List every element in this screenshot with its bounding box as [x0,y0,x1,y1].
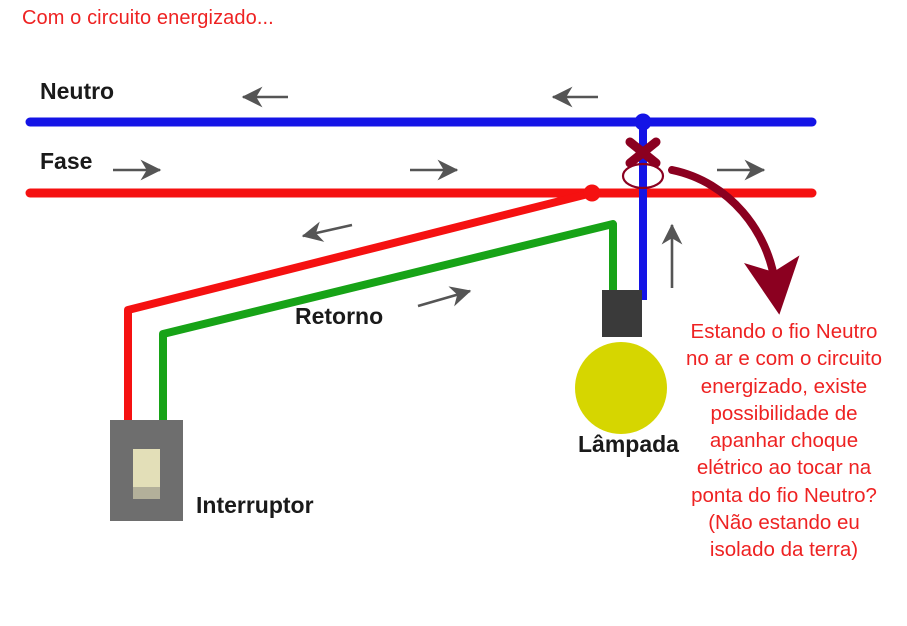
note-line: energizado, existe [664,373,904,400]
switch-rocker-shadow [133,487,160,499]
note-line: ponta do fio Neutro? [664,482,904,509]
annotation-note: Estando o fio Neutro no ar e com o circu… [664,318,904,563]
diagram-canvas: Com o circuito energizado... Neutro Fase… [0,0,907,626]
note-line: apanhar choque [664,427,904,454]
page-title: Com o circuito energizado... [22,8,274,28]
label-retorno: Retorno [295,305,383,328]
retorno-arrow-left-diagonal-icon [303,225,352,236]
label-neutro: Neutro [40,80,114,103]
note-line: elétrico ao tocar na [664,454,904,481]
fase-junction-dot [584,185,601,202]
neutro-junction-dot [635,114,652,131]
retorno-arrow-right-diagonal-icon [418,291,470,306]
note-line: no ar e com o circuito [664,345,904,372]
note-line: isolado da terra) [664,536,904,563]
lamp-bulb [575,342,667,434]
retorno-wire [163,224,613,424]
label-fase: Fase [40,150,92,173]
switch-rocker[interactable] [133,449,160,487]
label-interruptor: Interruptor [196,494,314,517]
callout-curved-arrow-icon [672,170,775,283]
lamp-base [602,290,642,337]
note-line: possibilidade de [664,400,904,427]
note-line: Estando o fio Neutro [664,318,904,345]
note-line: (Não estando eu [664,509,904,536]
